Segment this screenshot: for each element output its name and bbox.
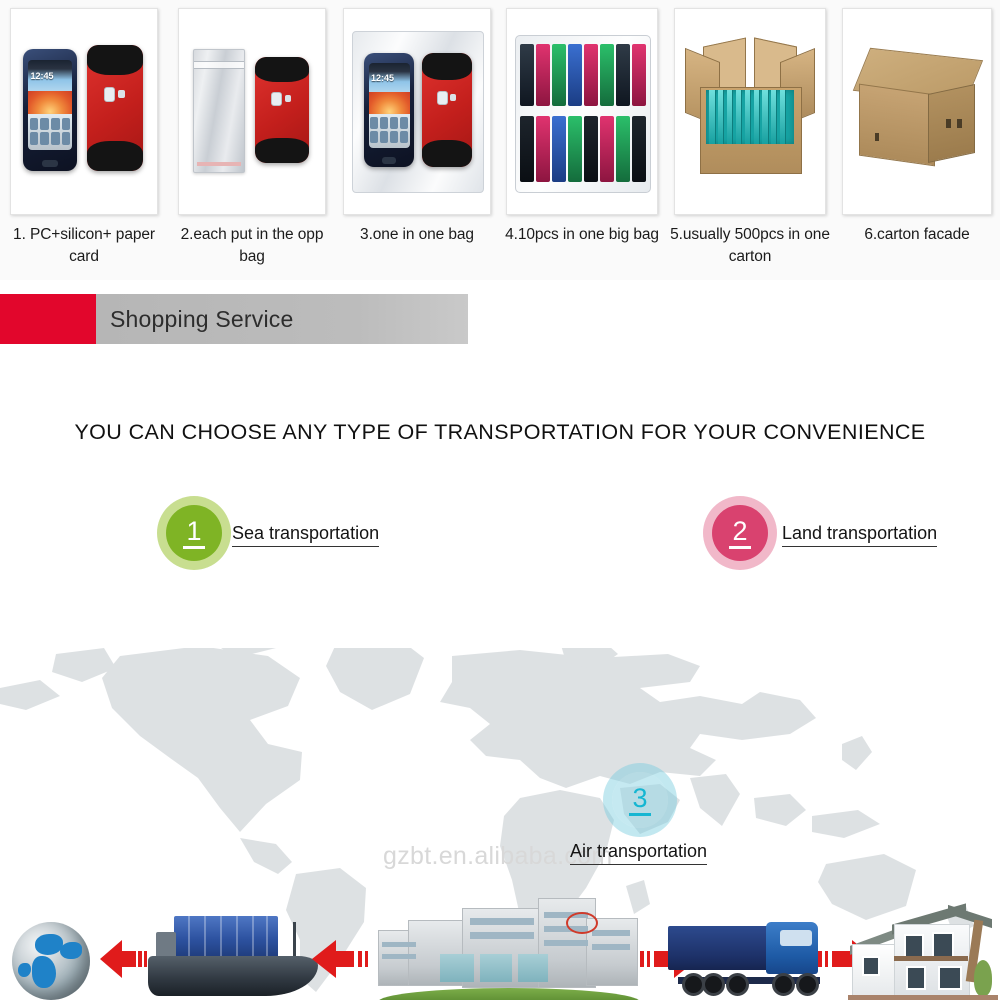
step-1-badge: 1 [166,505,222,561]
step-1-number: 1 [183,517,204,549]
banner-grey-block: Shopping Service [96,294,468,344]
transportation-section: YOU CAN CHOOSE ANY TYPE OF TRANSPORTATIO… [0,360,1000,1000]
phone-and-red-case-photo: 12:45 [10,8,158,215]
step-2-number: 2 [729,517,750,549]
packaging-step-3: 12:45 3.one in one bag [336,0,498,280]
packaging-step-5-caption: 5.usually 500pcs in one carton [666,224,834,268]
packaging-step-6: 6.carton facade [834,0,1000,280]
packaging-step-4: 4.10pcs in one big bag [498,0,666,280]
packaging-step-1: 12:45 1. PC+silicon+ paper card [0,0,168,280]
step-1-label: Sea transportation [232,523,379,547]
cargo-ship-icon [148,905,318,1000]
closed-carton-photo [842,8,992,215]
packaging-step-2: 2.each put in the opp bag [168,0,336,280]
factory-building-icon [378,896,640,1000]
destination-house-icon [848,908,998,1000]
cargo-truck-icon [668,920,836,1000]
step-3-badge: 3 [612,772,668,828]
banner-red-block [0,294,96,344]
packaging-step-2-caption: 2.each put in the opp bag [168,224,336,268]
packaging-step-3-caption: 3.one in one bag [336,224,498,246]
step-3-label: Air transportation [570,841,707,865]
packaging-step-5: 5.usually 500pcs in one carton [666,0,834,280]
arrow-factory-to-ship [312,940,374,978]
opp-bag-and-case-photo [178,8,326,215]
shopping-service-title: Shopping Service [110,306,293,333]
ten-cases-in-big-bag-photo [506,8,658,215]
globe-icon [12,922,90,1000]
step-2-label: Land transportation [782,523,937,547]
transportation-heading: YOU CAN CHOOSE ANY TYPE OF TRANSPORTATIO… [0,420,1000,445]
step-2-badge: 2 [712,505,768,561]
packaging-steps-strip: 12:45 1. PC+silicon+ paper card [0,0,1000,280]
arrow-ship-to-globe [100,940,146,978]
packaging-step-4-caption: 4.10pcs in one big bag [498,224,666,246]
shopping-service-banner: Shopping Service [0,294,468,344]
phone-and-case-in-bag-photo: 12:45 [343,8,491,215]
open-carton-with-cases-photo [674,8,826,215]
step-3-number: 3 [629,784,650,816]
packaging-step-1-caption: 1. PC+silicon+ paper card [0,224,168,268]
packaging-step-6-caption: 6.carton facade [834,224,1000,246]
